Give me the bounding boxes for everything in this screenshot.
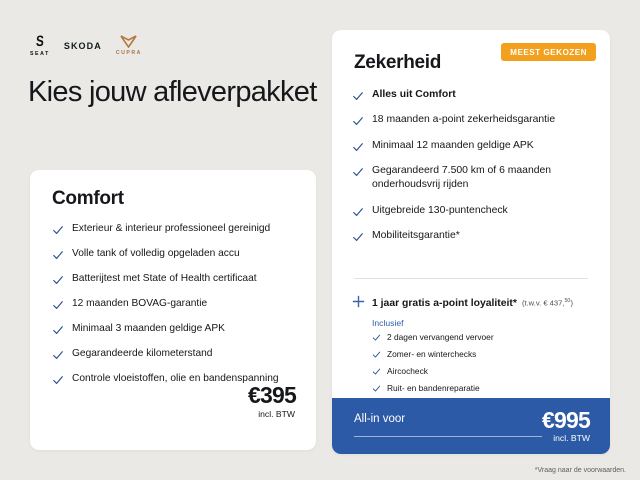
feature-label: Gegarandeerde kilometerstand (72, 347, 212, 361)
brand-logo-bar: S SEAT SKODA CUPRA (30, 34, 142, 57)
skoda-logo: SKODA (64, 41, 102, 51)
section-divider (354, 278, 588, 279)
inclusief-label: Inclusief (372, 318, 404, 328)
zekerheid-feature-list: Alles uit Comfort18 maanden a-point zeke… (352, 88, 602, 255)
check-icon (372, 384, 381, 393)
feature-label: Uitgebreide 130-puntencheck (372, 204, 508, 218)
check-icon (52, 349, 64, 361)
cupra-emblem-icon (120, 35, 137, 48)
feature-label: Mobiliteitsgarantie* (372, 229, 460, 243)
list-item: Exterieur & interieur professioneel gere… (52, 222, 298, 236)
feature-label: Exterieur & interieur professioneel gere… (72, 222, 270, 236)
inclusief-list: 2 dagen vervangend vervoerZomer- en wint… (372, 332, 552, 400)
comfort-title: Comfort (52, 188, 124, 210)
feature-label: Gegarandeerd 7.500 km of 6 maanden onder… (372, 164, 602, 193)
list-item: 18 maanden a-point zekerheidsgarantie (352, 113, 602, 127)
feature-label: Minimaal 12 maanden geldige APK (372, 139, 534, 153)
feature-label: Minimaal 3 maanden geldige APK (72, 322, 225, 336)
inclusief-label-item: Ruit- en bandenreparatie (387, 383, 480, 394)
check-icon (52, 224, 64, 236)
loyalty-value: (t.w.v. € 437,50) (522, 298, 573, 308)
check-icon (352, 231, 364, 243)
check-icon (52, 274, 64, 286)
inclusief-label-item: 2 dagen vervangend vervoer (387, 332, 494, 343)
package-card-comfort[interactable]: Comfort Exterieur & interieur profession… (30, 170, 316, 450)
list-item: 12 maanden BOVAG-garantie (52, 297, 298, 311)
check-icon (352, 115, 364, 127)
comfort-price: €395 (248, 382, 296, 409)
list-item: Volle tank of volledig opgeladen accu (52, 247, 298, 261)
skoda-wordmark: SKODA (64, 41, 102, 51)
cupra-logo: CUPRA (116, 35, 142, 56)
seat-logo: S SEAT (30, 34, 50, 57)
list-item: Uitgebreide 130-puntencheck (352, 204, 602, 218)
zekerheid-title: Zekerheid (354, 52, 441, 74)
plus-icon (352, 295, 365, 308)
list-item: Aircocheck (372, 366, 552, 377)
seat-emblem-icon: S (36, 34, 44, 49)
zekerheid-price-note: incl. BTW (553, 433, 590, 443)
list-item: Alles uit Comfort (352, 88, 602, 102)
zekerheid-price: €995 (542, 407, 590, 434)
check-icon (352, 90, 364, 102)
promo-page: S SEAT SKODA CUPRA Kies jouw afleverpakk… (0, 0, 640, 480)
footnote: *Vraag naar de voorwaarden. (535, 467, 626, 474)
feature-label: 18 maanden a-point zekerheidsgarantie (372, 113, 555, 127)
allin-underline (354, 436, 542, 437)
page-title: Kies jouw afleverpakket (28, 76, 318, 110)
list-item: 2 dagen vervangend vervoer (372, 332, 552, 343)
list-item: Mobiliteitsgarantie* (352, 229, 602, 243)
list-item: Gegarandeerd 7.500 km of 6 maanden onder… (352, 164, 602, 193)
check-icon (372, 333, 381, 342)
loyalty-title: 1 jaar gratis a-point loyaliteit* (372, 298, 517, 309)
list-item: Batterijtest met State of Health certifi… (52, 272, 298, 286)
list-item: Zomer- en winterchecks (372, 349, 552, 360)
check-icon (372, 367, 381, 376)
list-item: Gegarandeerde kilometerstand (52, 347, 298, 361)
inclusief-label-item: Aircocheck (387, 366, 428, 377)
loyalty-heading-row: 1 jaar gratis a-point loyaliteit* (t.w.v… (352, 293, 573, 309)
status-badge-meest-gekozen: MEEST GEKOZEN (501, 43, 596, 61)
comfort-price-note: incl. BTW (258, 409, 295, 419)
package-card-zekerheid[interactable]: MEEST GEKOZEN Zekerheid Alles uit Comfor… (332, 30, 610, 454)
zekerheid-price-footer: All-in voor €995 incl. BTW (332, 398, 610, 454)
cupra-wordmark: CUPRA (116, 50, 142, 56)
check-icon (352, 206, 364, 218)
feature-label: Batterijtest met State of Health certifi… (72, 272, 257, 286)
check-icon (52, 299, 64, 311)
feature-label: Volle tank of volledig opgeladen accu (72, 247, 240, 261)
seat-wordmark: SEAT (30, 51, 50, 57)
check-icon (52, 249, 64, 261)
feature-label: Alles uit Comfort (372, 88, 456, 102)
allin-label: All-in voor (354, 413, 405, 425)
check-icon (352, 166, 364, 178)
feature-label: 12 maanden BOVAG-garantie (72, 297, 207, 311)
list-item: Ruit- en bandenreparatie (372, 383, 552, 394)
list-item: Minimaal 12 maanden geldige APK (352, 139, 602, 153)
check-icon (52, 374, 64, 386)
list-item: Minimaal 3 maanden geldige APK (52, 322, 298, 336)
check-icon (372, 350, 381, 359)
check-icon (352, 141, 364, 153)
check-icon (52, 324, 64, 336)
comfort-feature-list: Exterieur & interieur professioneel gere… (52, 222, 298, 398)
inclusief-label-item: Zomer- en winterchecks (387, 349, 476, 360)
